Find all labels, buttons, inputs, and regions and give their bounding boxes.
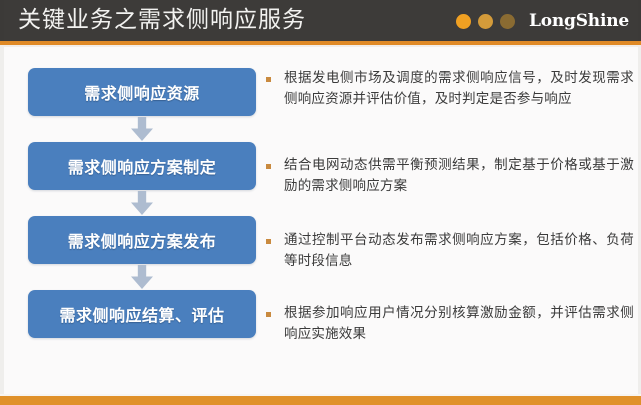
slide-canvas: 关键业务之需求侧响应服务 LongShine 需求侧响应资源 需求侧响应方案制定 [0, 0, 641, 405]
flow-box-label: 需求侧响应方案发布 [68, 228, 217, 252]
flow-box-demand-response-resource[interactable]: 需求侧响应资源 [28, 68, 256, 116]
list-item: 根据参加响应用户情况分别核算激励金额，并评估需求侧响应实施效果 [266, 303, 634, 345]
flow-box-plan-publication[interactable]: 需求侧响应方案发布 [28, 216, 256, 264]
footer-accent-bar [0, 396, 641, 405]
list-item: 结合电网动态供需平衡预测结果，制定基于价格或基于激励的需求侧响应方案 [266, 155, 634, 197]
flow-connector-1 [28, 116, 256, 142]
bullet-square-icon [266, 312, 271, 317]
arrow-down-icon [131, 265, 153, 289]
flow-connector-2 [28, 190, 256, 216]
flow-box-label: 需求侧响应方案制定 [68, 154, 217, 178]
bullet-square-icon [266, 77, 271, 82]
description-list: 根据发电侧市场及调度的需求侧响应信号，及时发现需求侧响应资源并评估价值，及时判定… [266, 47, 634, 377]
flow-box-label: 需求侧响应结算、评估 [59, 302, 224, 326]
list-item-text: 根据发电侧市场及调度的需求侧响应信号，及时发现需求侧响应资源并评估价值，及时判定… [284, 68, 634, 110]
process-flow-diagram: 需求侧响应资源 需求侧响应方案制定 需求侧响应方案发布 [28, 68, 256, 338]
bullet-square-icon [266, 239, 271, 244]
flow-step-1: 需求侧响应资源 [28, 68, 256, 116]
slide-header-bar: 关键业务之需求侧响应服务 LongShine [0, 0, 641, 41]
arrow-down-icon [131, 117, 153, 141]
logo-dot-2-icon [478, 14, 493, 29]
flow-box-label: 需求侧响应资源 [84, 80, 200, 104]
brand-logo: LongShine [456, 9, 629, 33]
flow-step-4: 需求侧响应结算、评估 [28, 290, 256, 338]
page-title: 关键业务之需求侧响应服务 [18, 4, 306, 37]
list-item: 通过控制平台动态发布需求侧响应方案，包括价格、负荷等时段信息 [266, 230, 634, 272]
logo-dot-3-icon [500, 14, 515, 29]
logo-dot-1-icon [456, 14, 471, 29]
flow-step-3: 需求侧响应方案发布 [28, 216, 256, 264]
bullet-square-icon [266, 164, 271, 169]
flow-box-plan-formulation[interactable]: 需求侧响应方案制定 [28, 142, 256, 190]
list-item-text: 结合电网动态供需平衡预测结果，制定基于价格或基于激励的需求侧响应方案 [284, 155, 634, 197]
arrow-down-icon [131, 191, 153, 215]
flow-box-settlement-evaluation[interactable]: 需求侧响应结算、评估 [28, 290, 256, 338]
flow-step-2: 需求侧响应方案制定 [28, 142, 256, 190]
flow-connector-3 [28, 264, 256, 290]
logo-wordmark: LongShine [529, 12, 629, 31]
list-item-text: 根据参加响应用户情况分别核算激励金额，并评估需求侧响应实施效果 [284, 303, 634, 345]
list-item: 根据发电侧市场及调度的需求侧响应信号，及时发现需求侧响应资源并评估价值，及时判定… [266, 68, 634, 110]
slide-content: 需求侧响应资源 需求侧响应方案制定 需求侧响应方案发布 [0, 47, 641, 377]
list-item-text: 通过控制平台动态发布需求侧响应方案，包括价格、负荷等时段信息 [284, 230, 634, 272]
